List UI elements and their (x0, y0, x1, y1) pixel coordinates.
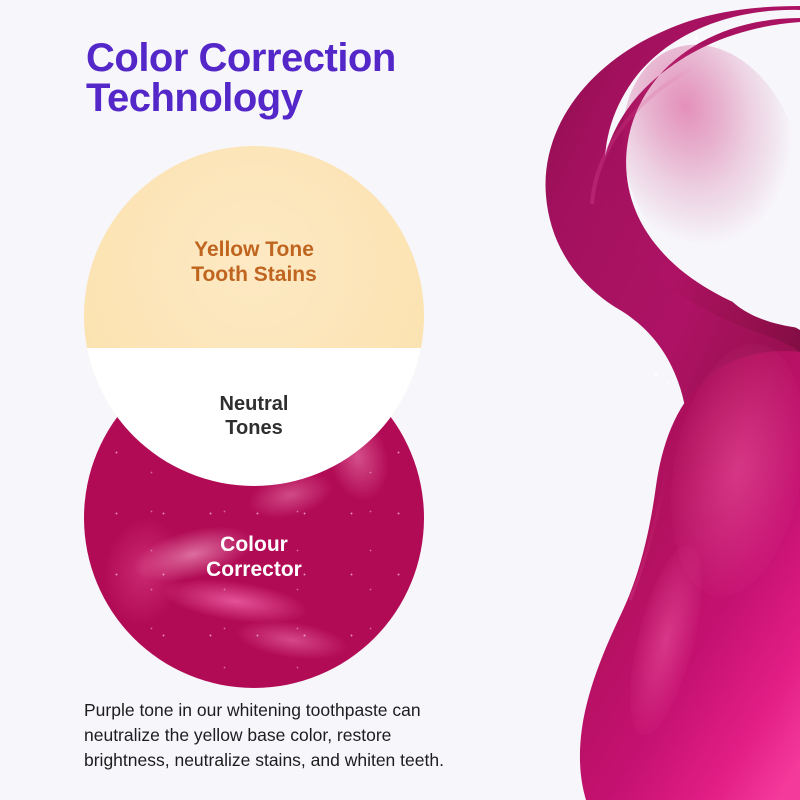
description-paragraph: Purple tone in our whitening toothpaste … (84, 698, 554, 773)
toothpaste-swirl-artwork (480, 0, 800, 800)
venn-diagram: Yellow Tone Tooth Stains Neutral Tones C… (0, 0, 520, 700)
neutral-tones-lens-shape (84, 348, 424, 486)
product-infographic-page: Color Correction Technology Yellow Tone … (0, 0, 800, 800)
neutral-tones-lens (84, 348, 424, 486)
